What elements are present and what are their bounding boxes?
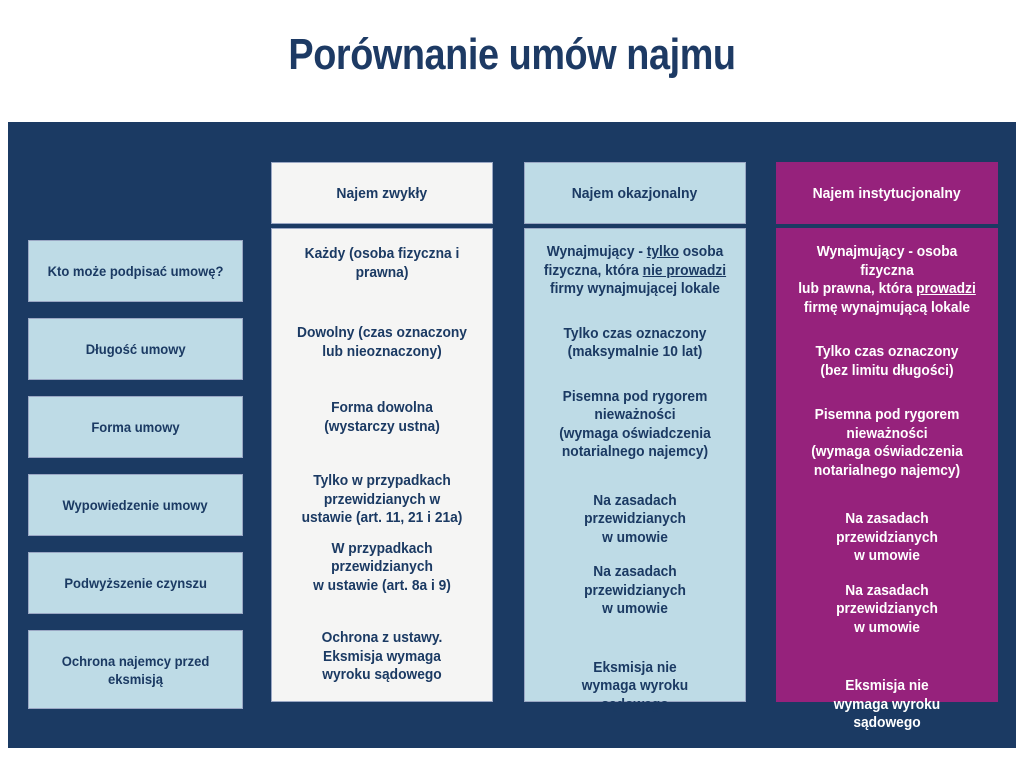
table-cell: Pisemna pod rygorem nieważności(wymaga o… xyxy=(783,406,991,480)
page-title: Porównanie umów najmu xyxy=(72,26,953,84)
row-label-box: Ochrona najemcy przed eksmisją xyxy=(28,630,243,709)
table-cell: Każdy (osoba fizyczna i prawna) xyxy=(278,245,486,282)
row-label-column: Kto może podpisać umowę? Długość umowy F… xyxy=(28,240,243,725)
table-cell: Wynajmujący - tylko osobafizyczna, która… xyxy=(531,243,739,299)
table-cell: Tylko czas oznaczony(maksymalnie 10 lat) xyxy=(531,325,739,362)
column-header: Najem instytucjonalny xyxy=(776,162,998,224)
row-label-box: Podwyższenie czynszu xyxy=(28,552,243,614)
column-najem-okazjonalny: Najem okazjonalny Wynajmujący - tylko os… xyxy=(524,162,746,702)
column-header-text: Najem instytucjonalny xyxy=(813,184,961,203)
column-body: Każdy (osoba fizyczna i prawna) Dowolny … xyxy=(271,228,493,702)
row-label-text: Ochrona najemcy przed eksmisją xyxy=(44,652,227,688)
row-label-text: Wypowiedzenie umowy xyxy=(63,496,208,514)
column-najem-zwykly: Najem zwykły Każdy (osoba fizyczna i pra… xyxy=(271,162,493,702)
table-cell: Forma dowolna(wystarczy ustna) xyxy=(278,399,486,436)
table-cell: Wynajmujący - osoba fizycznalub prawna, … xyxy=(783,243,991,317)
row-label-text: Kto może podpisać umowę? xyxy=(48,262,224,280)
table-cell: Tylko czas oznaczony(bez limitu długości… xyxy=(783,343,991,380)
table-cell: Ochrona z ustawy.Eksmisja wymagawyroku s… xyxy=(278,629,486,685)
row-label-box: Forma umowy xyxy=(28,396,243,458)
table-cell: Eksmisja niewymaga wyrokusądowego xyxy=(531,659,739,715)
table-cell: Na zasadachprzewidzianychw umowie xyxy=(531,563,739,619)
column-header-text: Najem okazjonalny xyxy=(572,184,698,203)
row-label-box: Wypowiedzenie umowy xyxy=(28,474,243,536)
column-najem-instytucjonalny: Najem instytucjonalny Wynajmujący - osob… xyxy=(776,162,998,702)
row-label-box: Kto może podpisać umowę? xyxy=(28,240,243,302)
table-cell: Pisemna pod rygorem nieważności(wymaga o… xyxy=(531,388,739,462)
column-body: Wynajmujący - tylko osobafizyczna, która… xyxy=(524,228,746,702)
row-label-text: Długość umowy xyxy=(86,340,186,358)
table-cell: Na zasadachprzewidzianychw umowie xyxy=(783,510,991,566)
table-cell: Dowolny (czas oznaczonylub nieoznaczony) xyxy=(278,324,486,361)
table-cell: Na zasadachprzewidzianychw umowie xyxy=(783,582,991,638)
row-label-text: Podwyższenie czynszu xyxy=(64,574,207,592)
table-cell: Tylko w przypadkachprzewidzianych wustaw… xyxy=(278,472,486,528)
column-header: Najem zwykły xyxy=(271,162,493,224)
column-body: Wynajmujący - osoba fizycznalub prawna, … xyxy=(776,228,998,702)
column-header-text: Najem zwykły xyxy=(337,184,428,203)
row-label-box: Długość umowy xyxy=(28,318,243,380)
table-cell: W przypadkachprzewidzianychw ustawie (ar… xyxy=(278,540,486,596)
row-label-text: Forma umowy xyxy=(91,418,179,436)
table-cell: Na zasadachprzewidzianychw umowie xyxy=(531,492,739,548)
column-header: Najem okazjonalny xyxy=(524,162,746,224)
table-cell: Eksmisja niewymaga wyrokusądowego xyxy=(783,677,991,733)
